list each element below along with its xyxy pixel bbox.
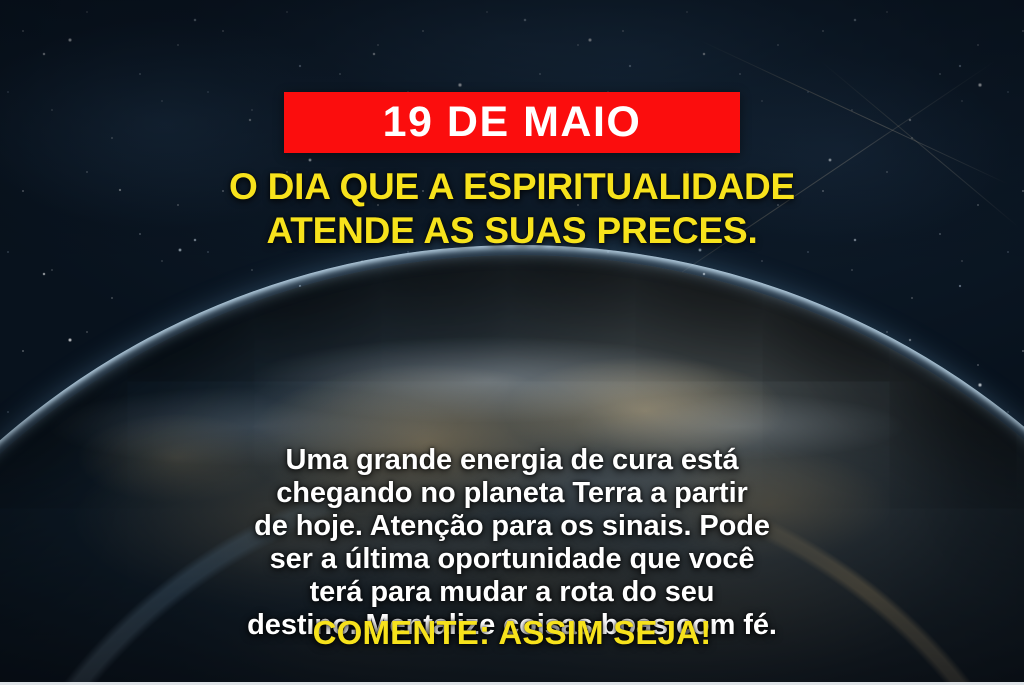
headline-line-1: O DIA QUE A ESPIRITUALIDADE (40, 165, 984, 209)
body-copy-line-4: ser a última oportunidade que você (48, 543, 976, 576)
body-copy-line-2: chegando no planeta Terra a partir (48, 477, 976, 510)
poster-canvas: 19 DE MAIO O DIA QUE A ESPIRITUALIDADE A… (0, 0, 1024, 685)
body-copy: Uma grande energia de cura está chegando… (0, 444, 1024, 642)
headline: O DIA QUE A ESPIRITUALIDADE ATENDE AS SU… (0, 165, 1024, 253)
body-copy-line-3: de hoje. Atenção para os sinais. Pode (48, 510, 976, 543)
poster-content: 19 DE MAIO O DIA QUE A ESPIRITUALIDADE A… (0, 0, 1024, 685)
date-banner: 19 DE MAIO (284, 92, 740, 153)
headline-line-2: ATENDE AS SUAS PRECES. (40, 209, 984, 253)
call-to-action-text: COMENTE: ASSIM SEJA! (0, 614, 1024, 652)
body-copy-line-1: Uma grande energia de cura está (48, 444, 976, 477)
date-banner-label: 19 DE MAIO (383, 101, 642, 144)
body-copy-line-5: terá para mudar a rota do seu (48, 576, 976, 609)
